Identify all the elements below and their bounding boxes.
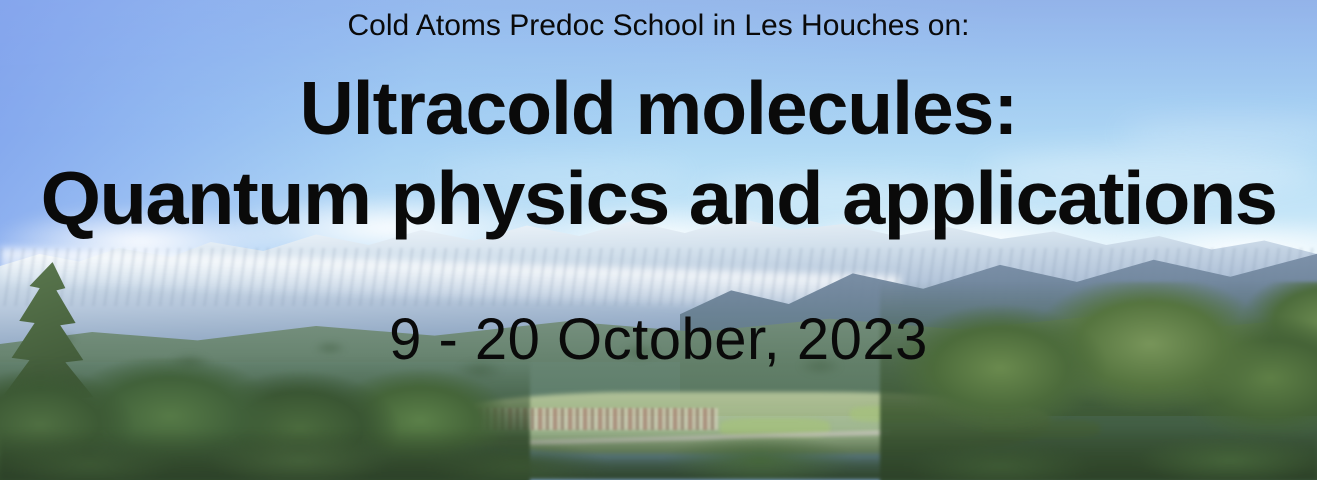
conference-title-line-2: Quantum physics and applications — [0, 160, 1317, 237]
conference-banner: Cold Atoms Predoc School in Les Houches … — [0, 0, 1317, 480]
banner-text-layer: Cold Atoms Predoc School in Les Houches … — [0, 0, 1317, 480]
conference-dates: 9 - 20 October, 2023 — [0, 306, 1317, 373]
school-subtitle: Cold Atoms Predoc School in Les Houches … — [0, 8, 1317, 44]
conference-title-line-1: Ultracold molecules: — [0, 70, 1317, 147]
